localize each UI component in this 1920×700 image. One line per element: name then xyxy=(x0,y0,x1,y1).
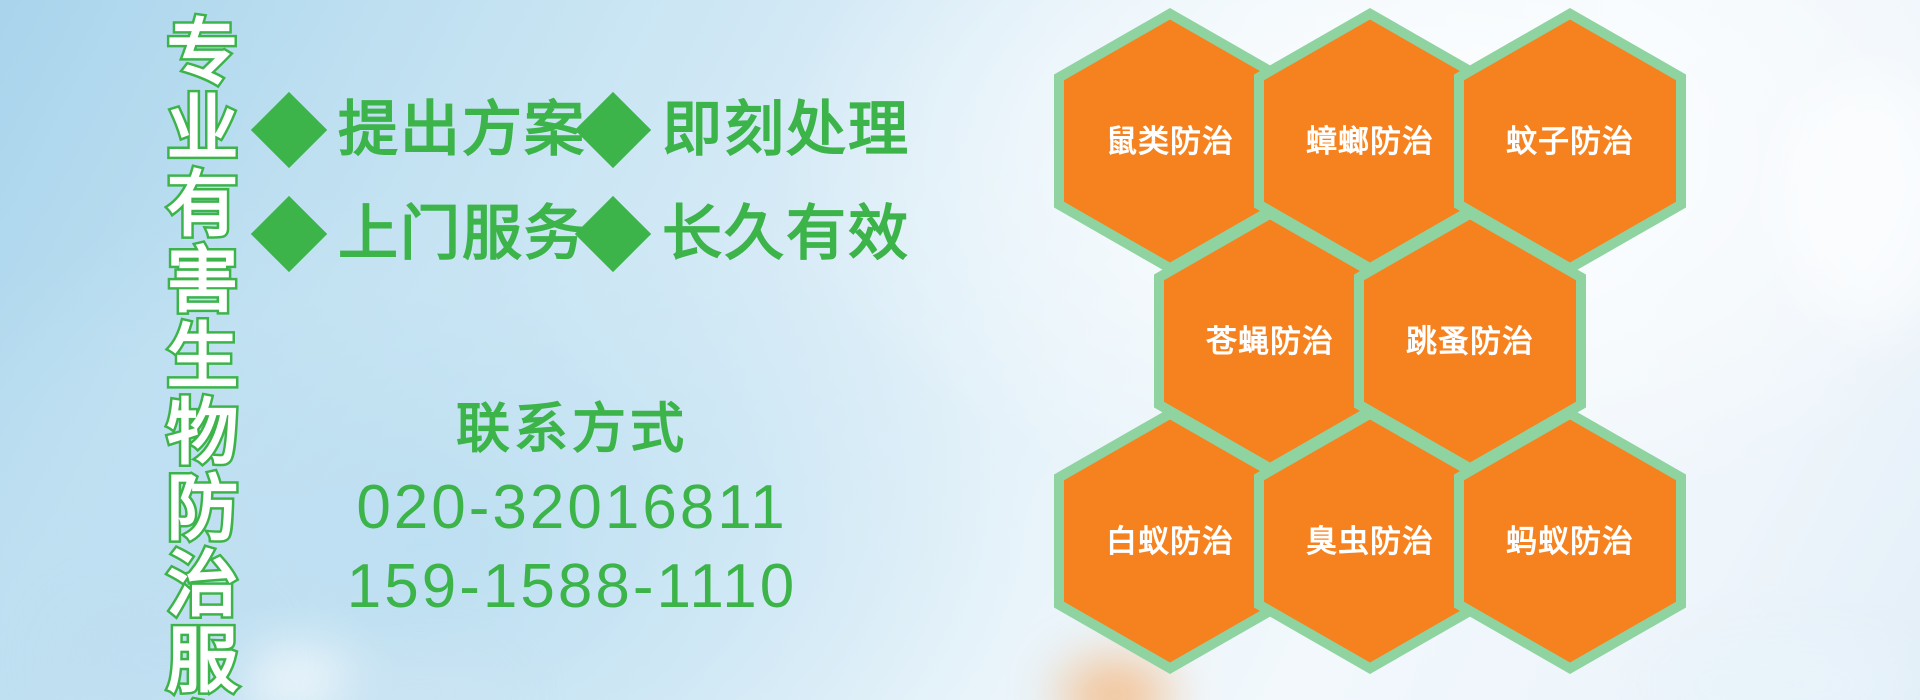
hexagon-inner: 臭虫防治 xyxy=(1264,420,1476,663)
diamond-icon xyxy=(251,196,327,272)
phone-number-landline[interactable]: 020-32016811 xyxy=(262,468,882,547)
vertical-headline: 专业有害生物防治服务 xyxy=(120,14,230,686)
service-label: 苍蝇防治 xyxy=(1206,326,1334,357)
background-bokeh-blob xyxy=(330,666,510,700)
service-label: 臭虫防治 xyxy=(1306,526,1434,557)
contact-block: 联系方式 020-32016811 159-1588-1110 xyxy=(262,398,882,627)
feature-row: 上门服务 长久有效 xyxy=(262,182,882,286)
feature-label: 上门服务 xyxy=(338,204,586,264)
service-label: 跳蚤防治 xyxy=(1406,326,1534,357)
service-label: 蟑螂防治 xyxy=(1306,126,1434,157)
feature-label: 提出方案 xyxy=(338,100,586,160)
contact-title: 联系方式 xyxy=(262,398,882,460)
service-label: 鼠类防治 xyxy=(1106,126,1234,157)
service-hexagon-grid: 鼠类防治 蟑螂防治 蚊子防治 苍蝇防治 跳蚤防治 白蚁防治 xyxy=(1048,0,1828,700)
background-bokeh-blob xyxy=(230,648,360,700)
hexagon-inner: 白蚁防治 xyxy=(1064,420,1276,663)
feature-item-onsite-service: 上门服务 xyxy=(262,204,586,264)
feature-item-immediate-handling: 即刻处理 xyxy=(586,100,910,160)
feature-row: 提出方案 即刻处理 xyxy=(262,78,882,182)
phone-number-mobile[interactable]: 159-1588-1110 xyxy=(262,547,882,626)
feature-label: 长久有效 xyxy=(662,204,910,264)
service-label: 蚊子防治 xyxy=(1506,126,1634,157)
service-label: 白蚁防治 xyxy=(1106,526,1234,557)
diamond-icon xyxy=(251,92,327,168)
hexagon-inner: 蚂蚁防治 xyxy=(1464,420,1676,663)
feature-list: 提出方案 即刻处理 上门服务 长久有效 xyxy=(262,78,882,286)
pest-control-banner: 专业有害生物防治服务 提出方案 即刻处理 上门服务 长久有效 联系方式 xyxy=(0,0,1920,700)
diamond-icon xyxy=(575,196,651,272)
service-label: 蚂蚁防治 xyxy=(1506,526,1634,557)
feature-item-propose-plan: 提出方案 xyxy=(262,100,586,160)
feature-label: 即刻处理 xyxy=(662,100,910,160)
feature-item-long-lasting: 长久有效 xyxy=(586,204,910,264)
diamond-icon xyxy=(575,92,651,168)
